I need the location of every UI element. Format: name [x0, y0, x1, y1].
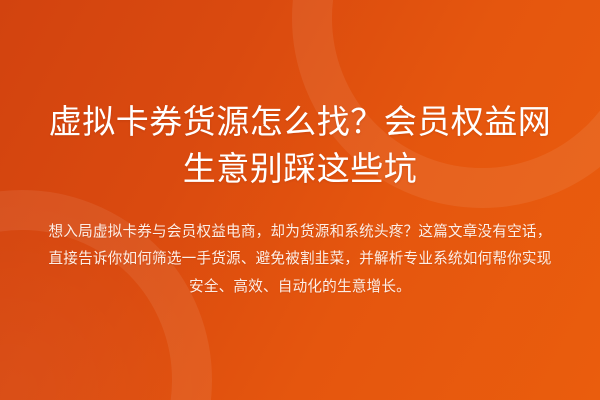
page-title: 虚拟卡券货源怎么找？会员权益网生意别踩这些坑 — [48, 99, 553, 193]
cover-content: 虚拟卡券货源怎么找？会员权益网生意别踩这些坑 想入局虚拟卡券与会员权益电商，却为… — [0, 0, 600, 400]
article-cover-card: 虚拟卡券货源怎么找？会员权益网生意别踩这些坑 想入局虚拟卡券与会员权益电商，却为… — [0, 0, 600, 400]
page-subtitle: 想入局虚拟卡券与会员权益电商，却为货源和系统头疼？这篇文章没有空话，直接告诉你如… — [42, 219, 558, 301]
